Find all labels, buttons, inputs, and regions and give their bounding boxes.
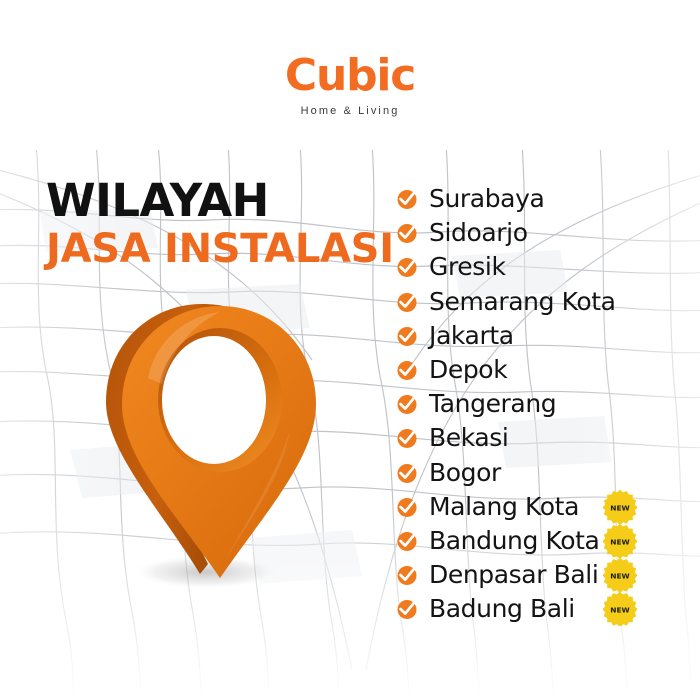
- city-name: Surabaya: [429, 185, 544, 213]
- check-circle-icon: [396, 188, 418, 210]
- status-badge: NEW: [603, 524, 637, 558]
- list-item[interactable]: Depok: [396, 353, 696, 387]
- city-name: Depok: [429, 356, 507, 384]
- list-item[interactable]: Sidoarjo: [396, 216, 696, 250]
- svg-text:NEW: NEW: [610, 572, 629, 581]
- list-item[interactable]: Bogor: [396, 456, 696, 490]
- list-item[interactable]: Gresik: [396, 250, 696, 284]
- list-item[interactable]: Badung Bali NEW: [396, 592, 696, 626]
- city-name: Gresik: [429, 253, 506, 281]
- status-badge: NEW: [603, 490, 637, 524]
- page-title: WILAYAH JASA INSTALASI: [46, 176, 396, 272]
- city-name: Semarang Kota: [429, 288, 616, 316]
- city-name: Bandung Kota: [429, 527, 599, 555]
- list-item[interactable]: Malang Kota NEW: [396, 490, 696, 524]
- city-name: Jakarta: [429, 322, 514, 350]
- city-name: Tangerang: [429, 390, 556, 418]
- check-circle-icon: [396, 222, 418, 244]
- svg-text:NEW: NEW: [610, 606, 629, 615]
- check-circle-icon: [396, 598, 418, 620]
- check-circle-icon: [396, 462, 418, 484]
- list-item[interactable]: Tangerang: [396, 387, 696, 421]
- check-circle-icon: [396, 256, 418, 278]
- headline-line-2: JASA INSTALASI: [46, 226, 396, 272]
- check-circle-icon: [396, 359, 418, 381]
- check-circle-icon: [396, 427, 418, 449]
- svg-text:NEW: NEW: [610, 537, 629, 546]
- promo-poster: Cubic Home & Living WILAYAH JASA INSTALA…: [0, 0, 700, 700]
- city-name: Bogor: [429, 459, 501, 487]
- list-item[interactable]: Semarang Kota: [396, 285, 696, 319]
- brand-name: Cubic: [0, 52, 700, 100]
- brand-tagline: Home & Living: [0, 104, 700, 118]
- check-circle-icon: [396, 564, 418, 586]
- brand-logo: Cubic Home & Living: [0, 52, 700, 118]
- list-item[interactable]: Denpasar Bali NEW: [396, 558, 696, 592]
- list-item[interactable]: Jakarta: [396, 319, 696, 353]
- check-circle-icon: [396, 291, 418, 313]
- map-pin-icon: [78, 300, 328, 600]
- list-item[interactable]: Surabaya: [396, 182, 696, 216]
- city-name: Badung Bali: [429, 595, 575, 623]
- headline-line-1: WILAYAH: [46, 176, 396, 226]
- check-circle-icon: [396, 496, 418, 518]
- status-badge: NEW: [603, 592, 637, 626]
- city-name: Denpasar Bali: [429, 561, 598, 589]
- city-name: Malang Kota: [429, 493, 579, 521]
- check-circle-icon: [396, 393, 418, 415]
- status-badge: NEW: [603, 558, 637, 592]
- check-circle-icon: [396, 325, 418, 347]
- list-item[interactable]: Bekasi: [396, 421, 696, 455]
- city-name: Bekasi: [429, 424, 508, 452]
- city-name: Sidoarjo: [429, 219, 528, 247]
- check-circle-icon: [396, 530, 418, 552]
- svg-text:NEW: NEW: [610, 503, 629, 512]
- list-item[interactable]: Bandung Kota NEW: [396, 524, 696, 558]
- coverage-city-list: Surabaya Sidoarjo Gresik Semarang Kota J: [396, 182, 696, 626]
